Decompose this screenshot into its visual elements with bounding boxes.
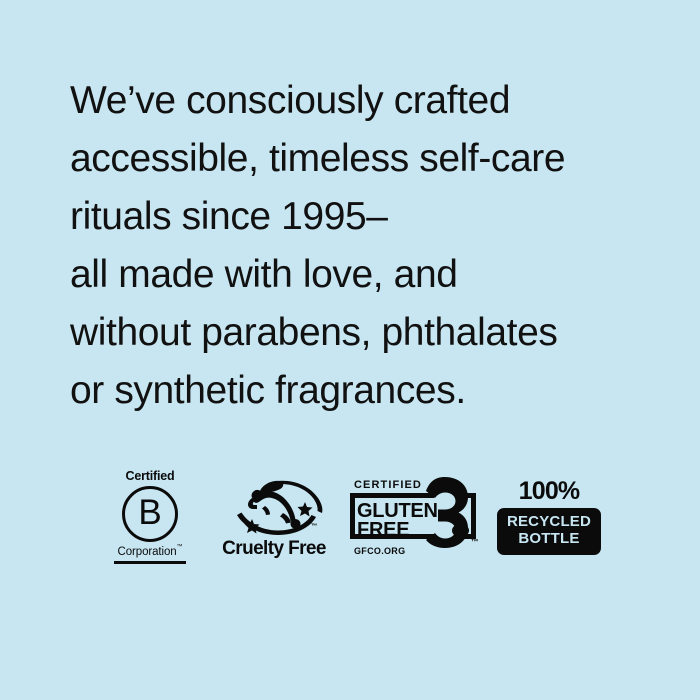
badge-certified-gluten-free: CERTIFIED GLUTEN FREE GFCO.ORG ™ xyxy=(339,467,489,567)
b-corp-certified-label: Certified xyxy=(126,470,175,483)
svg-text:CERTIFIED: CERTIFIED xyxy=(354,479,422,491)
svg-text:GFCO.ORG: GFCO.ORG xyxy=(354,546,405,556)
b-corp-letter: B xyxy=(138,495,161,530)
svg-text:FREE: FREE xyxy=(357,519,409,541)
badge-b-corp-certified: Certified B Corporation™ xyxy=(91,467,209,567)
trademark-icon: ™ xyxy=(177,544,183,550)
b-corp-corporation-text: Corporation xyxy=(118,546,177,558)
headline-line-2: accessible, timeless self-care xyxy=(70,130,670,188)
headline-line-1: We’ve consciously crafted xyxy=(70,72,670,130)
headline-line-4: all made with love, and xyxy=(70,246,670,304)
headline-line-6: or synthetic fragrances. xyxy=(70,362,670,420)
headline-line-5: without parabens, phthalates xyxy=(70,304,670,362)
svg-text:™: ™ xyxy=(311,523,318,530)
headline-line-3: rituals since 1995– xyxy=(70,188,670,246)
b-corp-icon: B xyxy=(122,486,178,542)
certification-badge-row: Certified B Corporation™ xyxy=(0,462,700,572)
marketing-banner: We’ve consciously crafted accessible, ti… xyxy=(0,0,700,700)
recycled-percent-label: 100% xyxy=(519,479,580,504)
recycled-label: RECYCLED xyxy=(506,514,592,531)
gluten-free-g-icon: CERTIFIED GLUTEN FREE GFCO.ORG ™ xyxy=(345,475,483,559)
recycled-bottle-box: RECYCLED BOTTLE xyxy=(497,508,601,555)
svg-text:™: ™ xyxy=(471,537,479,546)
leaping-bunny-icon: ™ xyxy=(222,476,326,538)
b-corp-corporation-label: Corporation™ xyxy=(118,546,183,558)
b-corp-underline xyxy=(114,561,186,564)
bottle-label: BOTTLE xyxy=(506,531,592,548)
cruelty-free-label: Cruelty Free xyxy=(222,539,326,558)
badge-cruelty-free: ™ Cruelty Free xyxy=(209,467,339,567)
headline-copy: We’ve consciously crafted accessible, ti… xyxy=(70,72,670,420)
badge-recycled-bottle: 100% RECYCLED BOTTLE xyxy=(489,467,609,567)
